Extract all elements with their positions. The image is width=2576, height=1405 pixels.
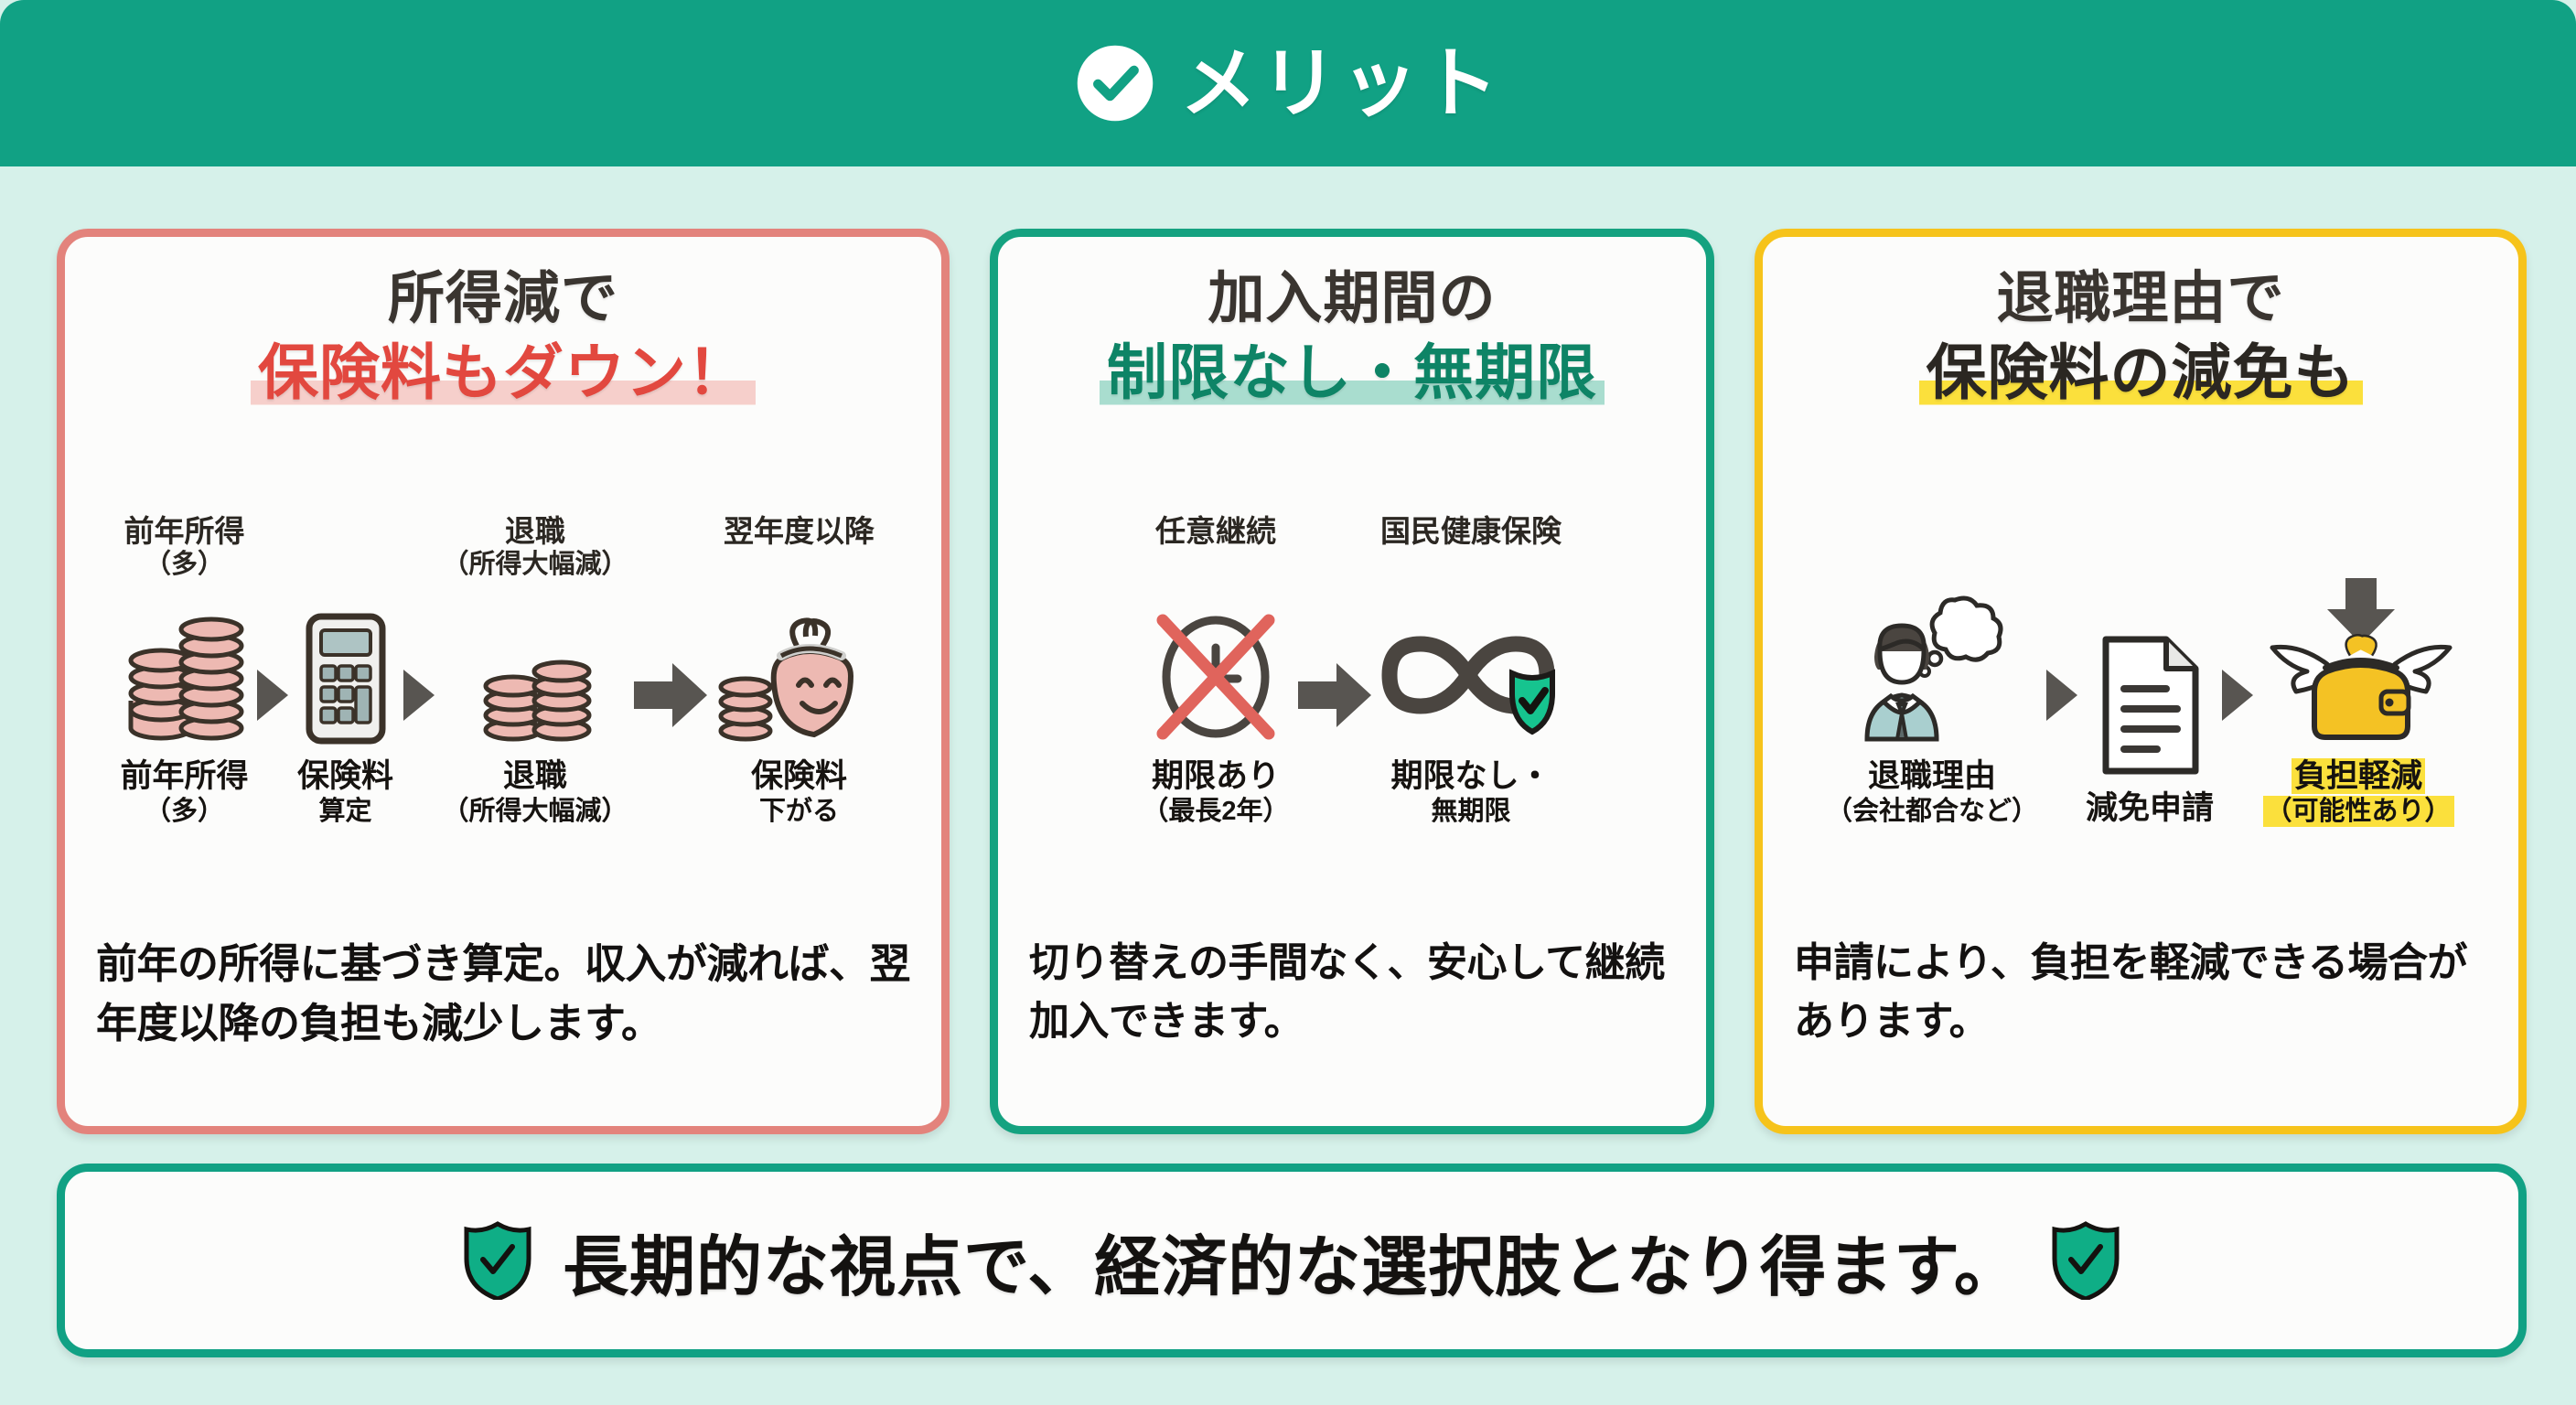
flow-chart: 退職理由 （会社都合など） <box>1781 514 2500 827</box>
card-diagram: 任意継続 期限あり <box>998 407 1706 934</box>
flow-node-label-sub: （可能性あり） <box>2263 796 2454 827</box>
coin-stack-icon <box>120 593 248 746</box>
flow-node: 国民健康保険 期限なし・ 無期限 <box>1377 514 1565 827</box>
flow-node-top: 前年所得 （多） <box>123 514 244 593</box>
document-icon <box>2093 625 2206 778</box>
flow-node: 減免申請 <box>2086 546 2214 827</box>
flow-node-label-main: 保険料 <box>751 758 847 794</box>
flow-node-label-main: 負担軽減 <box>2292 758 2425 794</box>
flow-node-label-main: 退職理由 <box>1868 758 1996 794</box>
header-banner: メリット <box>0 0 2576 166</box>
flow-node-label: 退職理由 （会社都合など） <box>1826 757 2038 827</box>
flow-node-label-main: 期限あり <box>1152 758 1280 794</box>
card-headline-line1: 退職理由で <box>1763 266 2518 332</box>
flow-node: 任意継続 期限あり <box>1139 514 1293 827</box>
flow-node-label-sub: （多） <box>120 796 248 827</box>
card-diagram: 前年所得 （多） <box>65 407 941 934</box>
card-description: 切り替えの手間なく、安心して継続加入できます。 <box>998 934 1706 1126</box>
flow-node-label-sub: 無期限 <box>1390 796 1551 827</box>
flow-node-label-main: 期限なし・ <box>1390 758 1551 794</box>
smiling-purse-icon <box>713 593 886 746</box>
card-diagram: 退職理由 （会社都合など） <box>1763 407 2518 934</box>
flow-node-label-sub: 算定 <box>297 796 393 827</box>
flow-node-label-sub: 下がる <box>751 796 847 827</box>
winged-wallet-down-arrow-icon <box>2261 593 2455 746</box>
flow-node-top-main: 前年所得 <box>123 514 244 548</box>
flow-node: 退職理由 （会社都合など） <box>1826 514 2038 827</box>
card-headline-line2: 保険料の減免も <box>1919 338 2363 408</box>
flow-node-top-main: 国民健康保険 <box>1380 514 1562 548</box>
flow-node-label-sub: （所得大幅減） <box>443 796 628 827</box>
arrow-right-icon <box>2214 618 2261 772</box>
page-title: メリット <box>1180 45 1502 122</box>
card-headline-line1: 所得減で <box>65 266 941 332</box>
flow-node-label: 退職 （所得大幅減） <box>443 757 628 827</box>
check-circle-icon <box>1074 42 1156 124</box>
benefit-card-income-reduction: 所得減で 保険料もダウン！ 前年所得 （多） <box>57 229 950 1134</box>
flow-node-top-sub: （所得大幅減） <box>443 550 628 581</box>
footer-text: 長期的な視点で、経済的な選択肢となり得ます。 <box>563 1213 2021 1309</box>
card-headline-line2: 保険料もダウン！ <box>251 338 756 408</box>
flow-node-top: 任意継続 <box>1155 514 1276 593</box>
flow-node: 保険料 算定 <box>296 514 395 827</box>
card-headline-line1: 加入期間の <box>998 266 1706 332</box>
card-headline: 所得減で 保険料もダウン！ <box>65 237 941 407</box>
flow-node-top: 翌年度以降 <box>724 514 875 593</box>
flow-node-label: 期限あり （最長2年） <box>1142 757 1289 827</box>
flow-node-top-main: 退職 <box>505 514 565 548</box>
benefit-card-no-time-limit: 加入期間の 制限なし・無期限 任意継続 <box>990 229 1714 1134</box>
arrow-right-block-icon <box>1293 618 1377 772</box>
flow-node-label-main: 減免申請 <box>2086 790 2214 826</box>
card-description: 前年の所得に基づき算定。収入が減れば、翌年度以降の負担も減少します。 <box>65 934 941 1126</box>
flow-chart: 任意継続 期限あり <box>1016 514 1688 827</box>
card-headline: 退職理由で 保険料の減免も <box>1763 237 2518 407</box>
card-headline-line2: 制限なし・無期限 <box>1100 338 1605 408</box>
shield-check-icon <box>2052 1221 2120 1300</box>
arrow-right-icon <box>395 618 443 772</box>
card-headline: 加入期間の 制限なし・無期限 <box>998 237 1706 407</box>
flow-node: 退職 （所得大幅減） <box>443 514 628 827</box>
flow-node-label: 負担軽減 （可能性あり） <box>2263 757 2454 827</box>
coin-stack-small-icon <box>475 593 596 746</box>
flow-node-label-sub: （最長2年） <box>1142 796 1289 827</box>
flow-node-label: 期限なし・ 無期限 <box>1390 757 1551 827</box>
flow-node-top-sub: （多） <box>123 550 244 581</box>
flow-node-label: 保険料 下がる <box>751 757 847 827</box>
flow-node-top-main: 翌年度以降 <box>724 514 875 548</box>
card-description: 申請により、負担を軽減できる場合があります。 <box>1763 934 2518 1126</box>
flow-node-top: 国民健康保険 <box>1380 514 1562 593</box>
thinking-person-icon <box>1847 593 2017 746</box>
benefit-card-premium-reduction: 退職理由で 保険料の減免も <box>1755 229 2527 1134</box>
infinity-shield-icon <box>1377 593 1565 746</box>
flow-node-label-sub: （会社都合など） <box>1826 796 2038 827</box>
clock-crossed-out-icon <box>1139 593 1293 746</box>
flow-node-label-main: 退職 <box>503 758 567 794</box>
flow-node-top-main: 任意継続 <box>1155 514 1276 548</box>
flow-chart: 前年所得 （多） <box>83 514 923 827</box>
shield-check-icon <box>464 1221 531 1300</box>
calculator-icon <box>296 593 395 746</box>
arrow-right-icon <box>249 618 296 772</box>
infographic-page: メリット 所得減で 保険料もダウン！ 前年所得 （多） <box>0 0 2576 1405</box>
arrow-right-icon <box>2038 618 2086 772</box>
flow-node-label-main: 保険料 <box>297 758 393 794</box>
flow-node: 翌年度以降 <box>713 514 886 827</box>
flow-node-top: 退職 （所得大幅減） <box>443 514 628 593</box>
flow-node: 前年所得 （多） <box>120 514 248 827</box>
benefit-cards-row: 所得減で 保険料もダウン！ 前年所得 （多） <box>57 229 2527 1134</box>
flow-node-label: 前年所得 （多） <box>120 757 248 827</box>
flow-node-label-main: 前年所得 <box>120 758 248 794</box>
flow-node-label: 減免申請 <box>2086 789 2214 827</box>
flow-node-label: 保険料 算定 <box>297 757 393 827</box>
footer-summary-banner: 長期的な視点で、経済的な選択肢となり得ます。 <box>57 1164 2527 1357</box>
arrow-right-block-icon <box>628 618 713 772</box>
flow-node: 負担軽減 （可能性あり） <box>2261 514 2455 827</box>
